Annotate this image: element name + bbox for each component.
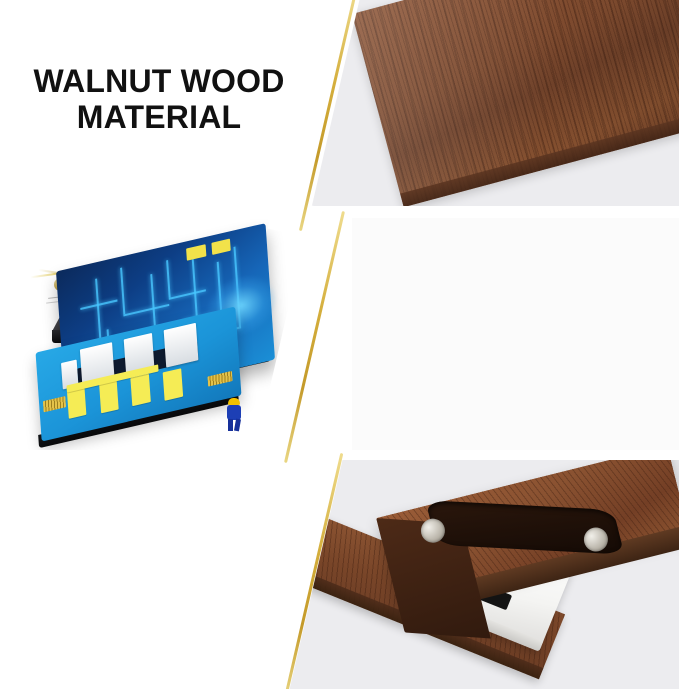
headline-walnut-wood: WALNUT WOOD MATERIAL [14,64,304,136]
headline-line-1: WALNUT WOOD [33,63,284,99]
headline-line-2: MATERIAL [14,100,304,136]
gold-pad-right [208,371,233,387]
circuit-board-illustration [28,238,298,438]
worker-figure [224,398,244,432]
worker-leg [228,419,233,431]
gold-pad-left [43,396,66,412]
row2-text-backdrop [352,216,679,454]
panel-plug-and-play: Plug and play [0,458,679,689]
worker-torso [227,405,241,420]
walnut-plank-board [352,0,679,207]
worker-helmet [228,398,240,405]
walnut-plank-photo [300,0,679,212]
memory-module [164,323,199,368]
panel-original-a-plus-chip: Original A+ chip [0,216,679,454]
product-infographic: WALNUT WOOD MATERIAL [0,0,679,689]
gold-contact [163,368,183,401]
gold-contact [131,373,151,406]
worker-leg [234,419,241,432]
